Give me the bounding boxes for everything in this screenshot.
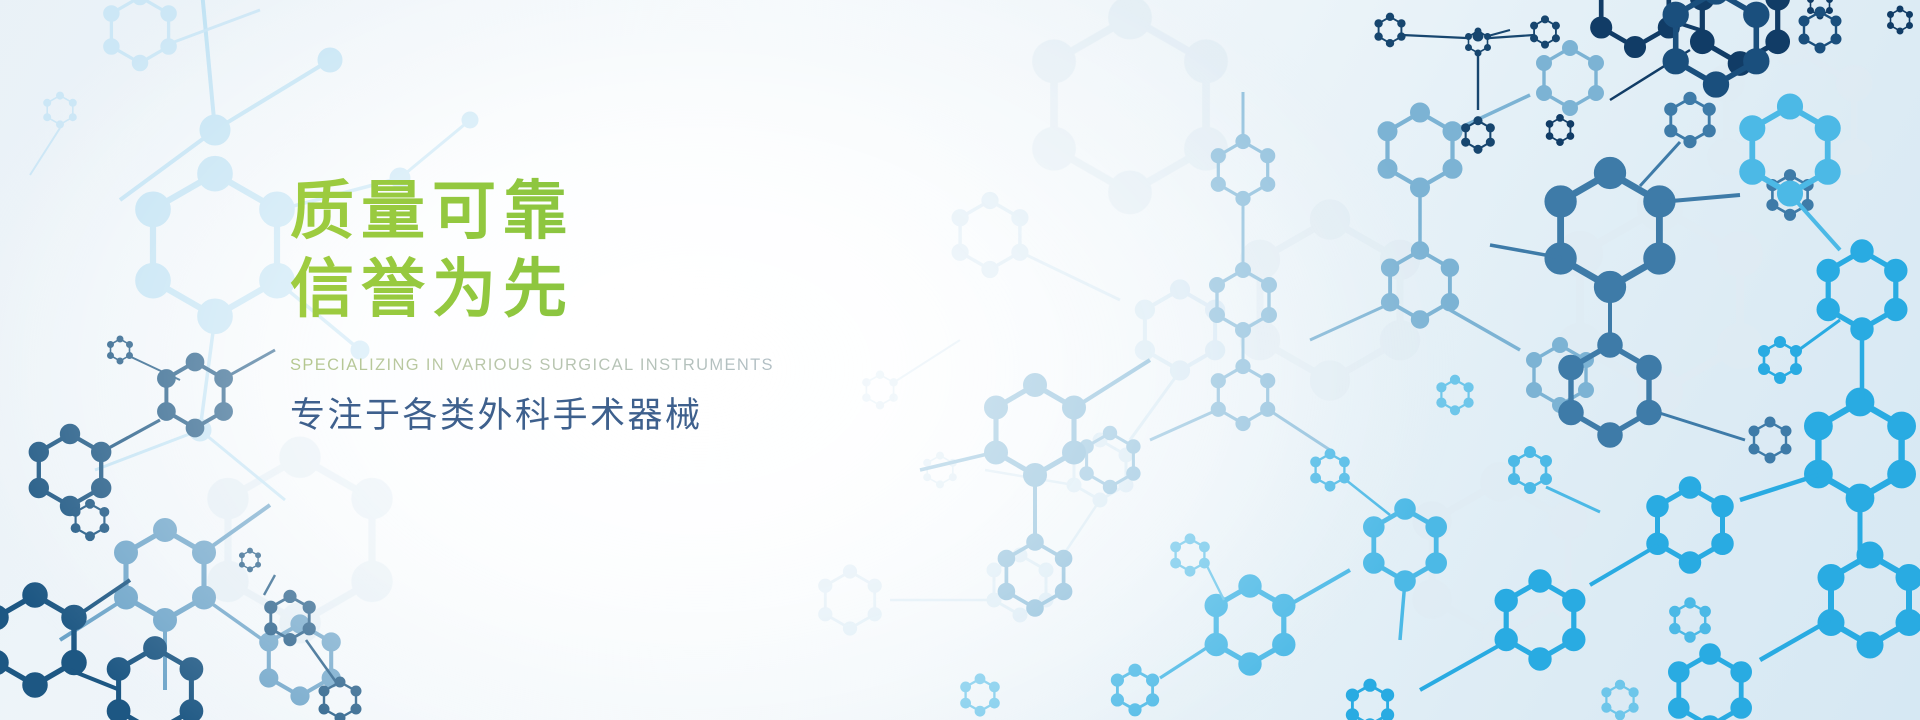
headline-line-2: 信誉为先	[290, 253, 1050, 325]
hero-banner: 质量可靠 信誉为先 SPECIALIZING IN VARIOUS SURGIC…	[0, 0, 1920, 720]
headline-line-1: 质量可靠	[290, 175, 1050, 247]
hero-text-block: 质量可靠 信誉为先 SPECIALIZING IN VARIOUS SURGIC…	[290, 175, 1050, 438]
english-tagline: SPECIALIZING IN VARIOUS SURGICAL INSTRUM…	[290, 356, 1050, 375]
chinese-subtitle: 专注于各类外科手术器械	[290, 387, 1050, 438]
